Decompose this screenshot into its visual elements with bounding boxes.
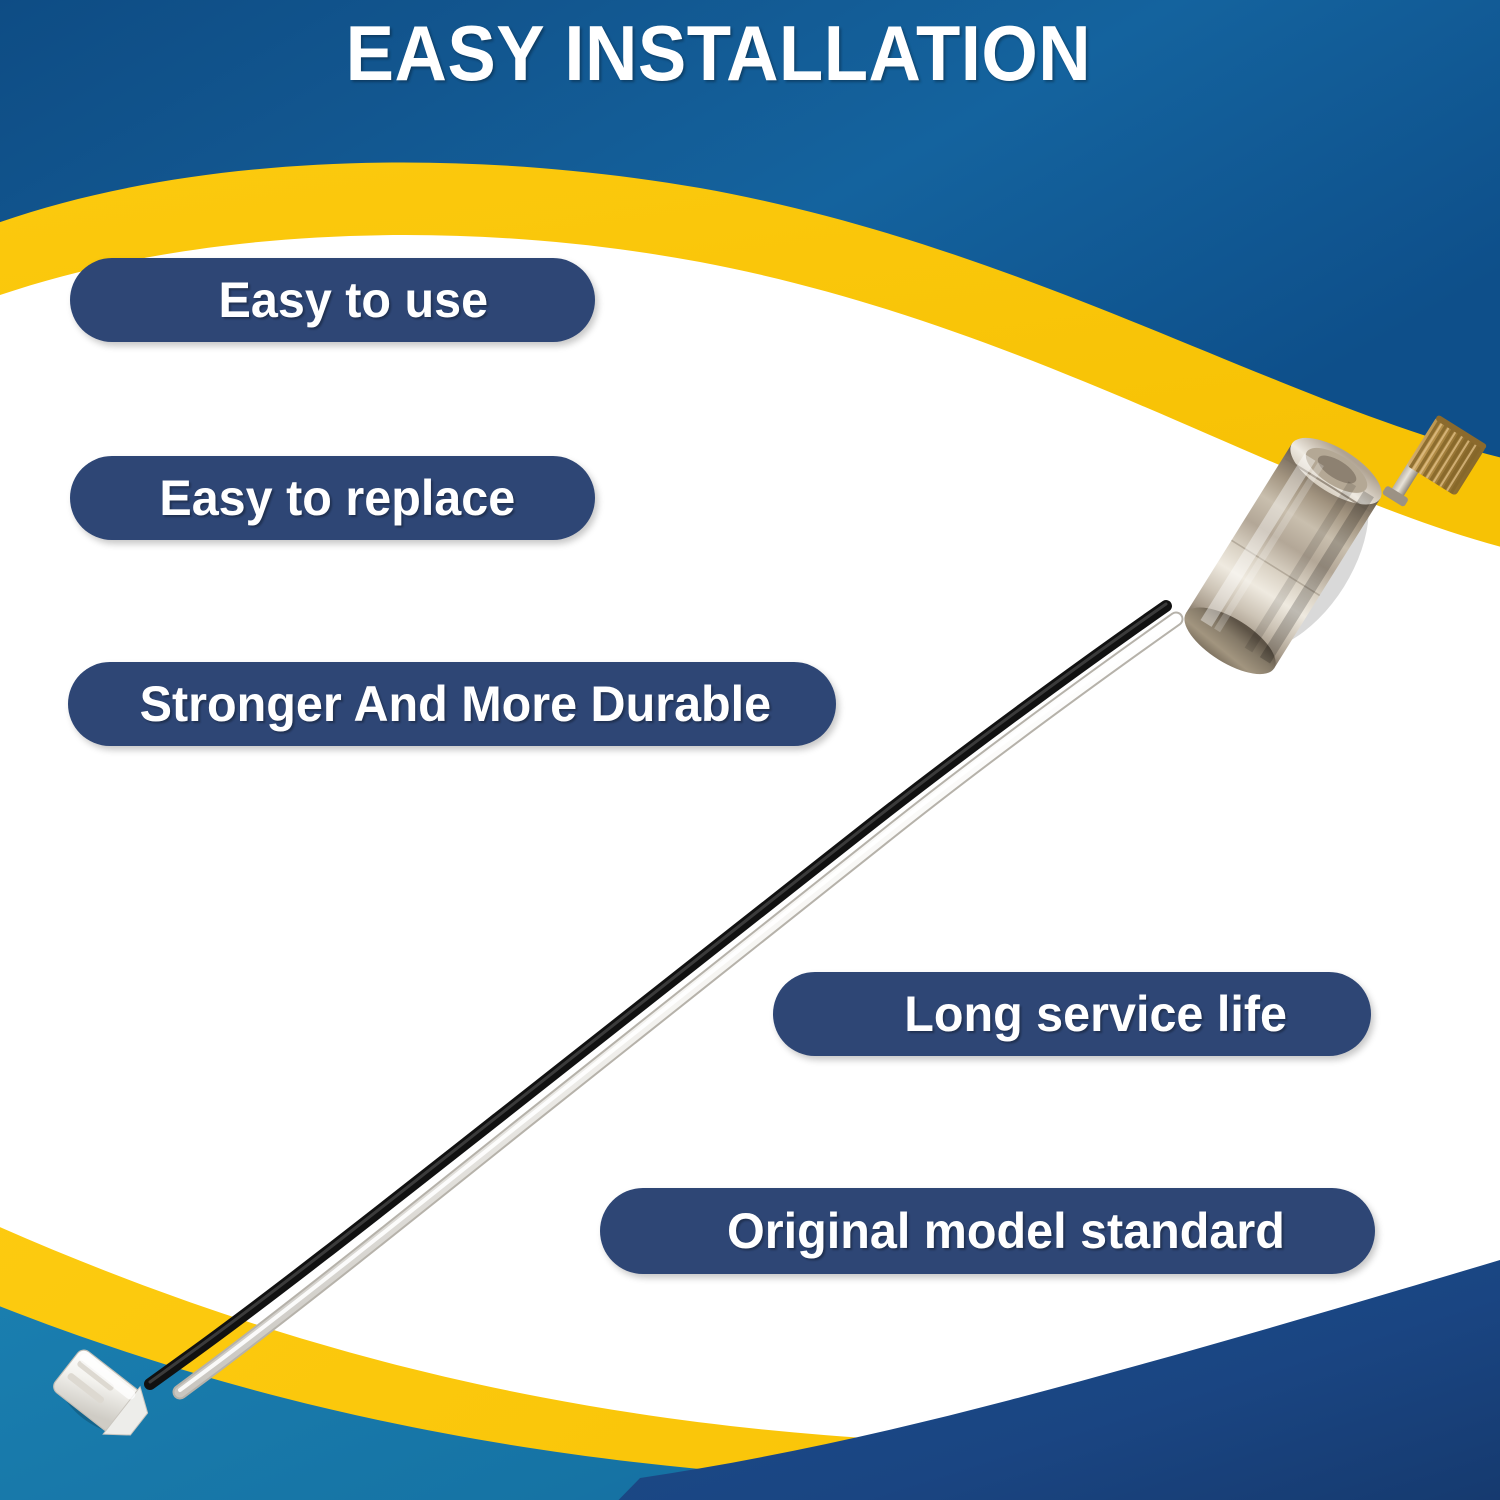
feature-badge-original-model-standard[interactable]: Original model standard — [600, 1188, 1375, 1274]
feature-badge-easy-to-use[interactable]: Easy to use — [70, 258, 595, 342]
product-infographic: EASY INSTALLATION Easy to use Easy to re… — [0, 0, 1500, 1500]
page-title: EASY INSTALLATION — [53, 14, 1448, 92]
feature-badge-label: Easy to use — [177, 275, 487, 325]
feature-badge-long-service-life[interactable]: Long service life — [773, 972, 1371, 1056]
feature-badge-label: Easy to replace — [150, 473, 516, 523]
feature-badge-label: Long service life — [857, 989, 1286, 1039]
background-artwork — [0, 0, 1500, 1500]
feature-badge-label: Stronger And More Durable — [133, 679, 770, 729]
feature-badge-easy-to-replace[interactable]: Easy to replace — [70, 456, 595, 540]
feature-badge-stronger-and-more-durable[interactable]: Stronger And More Durable — [68, 662, 836, 746]
feature-badge-label: Original model standard — [690, 1206, 1285, 1256]
